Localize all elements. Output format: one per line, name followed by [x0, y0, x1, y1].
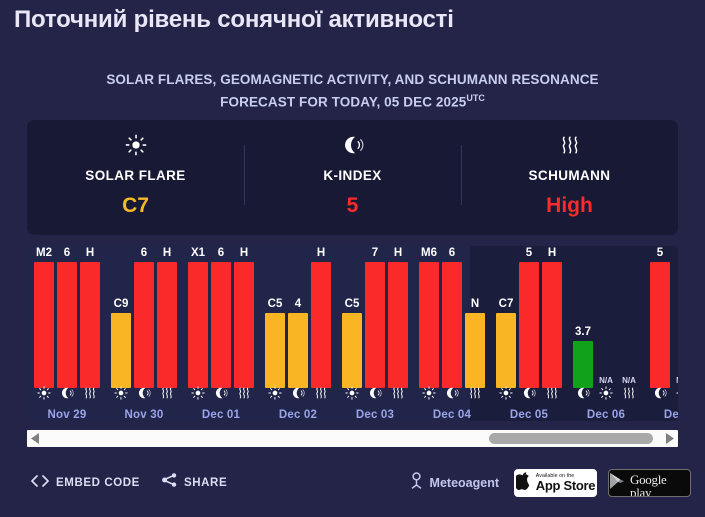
bar-rect: [519, 262, 539, 388]
day-label: Dec 06: [573, 409, 639, 421]
bar-solar-flare[interactable]: M6: [419, 246, 439, 388]
apple-logo-icon: [516, 472, 531, 495]
day-label: Dec 07: [650, 409, 678, 421]
sun-icon: [188, 385, 208, 401]
app-store-big-label: App Store: [536, 479, 595, 492]
schumann-waves-icon: [80, 385, 100, 401]
footer-brand-and-stores: Meteoagent Available on the App Store: [410, 469, 691, 497]
bar-solar-flare[interactable]: C5: [342, 246, 362, 388]
bar-value-label: C5: [345, 299, 360, 310]
day-group[interactable]: M26HNov 29: [34, 246, 100, 421]
embed-code-label: EMBED CODE: [56, 477, 140, 489]
bar-schumann[interactable]: H: [157, 246, 177, 388]
day-group[interactable]: C96HNov 30: [111, 246, 177, 421]
bar-value-label: C9: [114, 299, 129, 310]
bar-schumann[interactable]: H: [388, 246, 408, 388]
summary-cell-solar-flare: SOLAR FLAREC7: [27, 120, 244, 235]
bar-schumann[interactable]: N: [465, 246, 485, 388]
bar-rect: [134, 262, 154, 388]
bar-solar-flare[interactable]: C9: [111, 246, 131, 388]
bar-value-label: C5: [268, 299, 283, 310]
sun-icon: [125, 132, 147, 158]
day-label: Nov 29: [34, 409, 100, 421]
sun-icon: [111, 385, 131, 401]
sun-icon: [265, 385, 285, 401]
footer: EMBED CODE SHARE: [0, 462, 705, 517]
subtitle-line-2: FORECAST FOR TODAY, 05 DEC 2025UTC: [0, 89, 705, 112]
bar-value-label: 6: [64, 248, 70, 259]
moon-waves-icon: [342, 132, 364, 158]
scrollbar-thumb[interactable]: [489, 433, 653, 444]
moon-waves-icon: [365, 385, 385, 401]
google-play-text: ANDROID APP ON Google play: [630, 469, 690, 497]
bar-rect: [80, 262, 100, 388]
bar-rect: [650, 262, 670, 388]
brand[interactable]: Meteoagent: [410, 472, 499, 494]
bar-schumann[interactable]: H: [234, 246, 254, 388]
sun-icon: [673, 385, 678, 401]
solar-activity-widget: Поточний рівень сонячної активності SOLA…: [0, 0, 705, 517]
bar-value-label: 7: [372, 248, 378, 259]
bar-rect: [388, 262, 408, 388]
bar-rect: [234, 262, 254, 388]
schumann-waves-icon: [465, 385, 485, 401]
bar-rect: [496, 313, 516, 388]
summary-value: C7: [122, 194, 149, 218]
schumann-waves-icon: [157, 385, 177, 401]
bar-value-label: 3.7: [575, 327, 591, 338]
bar-solar-flare[interactable]: C7: [496, 246, 516, 388]
bar-k-index[interactable]: 6: [134, 246, 154, 388]
day-group[interactable]: 5N/AN/ADec 07: [650, 246, 678, 421]
bar-rect: [57, 262, 77, 388]
bar-value-label: H: [240, 248, 248, 259]
bar-rect: [419, 262, 439, 388]
bar-k-index[interactable]: 6: [442, 246, 462, 388]
bar-value-label: H: [86, 248, 94, 259]
bar-value-label: 6: [449, 248, 455, 259]
subtitle-date: FORECAST FOR TODAY, 05 DEC 2025: [220, 95, 466, 110]
forecast-subtitle: SOLAR FLARES, GEOMAGNETIC ACTIVITY, AND …: [0, 70, 705, 112]
bar-rect: [573, 341, 593, 388]
sun-icon: [496, 385, 516, 401]
summary-card: SOLAR FLAREC7K-INDEX5SCHUMANNHigh: [27, 120, 678, 235]
moon-waves-icon: [573, 385, 593, 401]
moon-waves-icon: [519, 385, 539, 401]
sun-icon: [419, 385, 439, 401]
sun-icon: [342, 385, 362, 401]
bar-solar-flare[interactable]: C5: [265, 246, 285, 388]
summary-label: K-INDEX: [323, 168, 381, 183]
day-label: Dec 01: [188, 409, 254, 421]
bar-value-label: 5: [526, 248, 532, 259]
moon-waves-icon: [57, 385, 77, 401]
schumann-waves-icon: [619, 385, 639, 401]
bar-rect: [157, 262, 177, 388]
moon-waves-icon: [134, 385, 154, 401]
bar-rect: [311, 262, 331, 388]
scrollbar-track[interactable]: [43, 430, 662, 447]
bar-solar-flare[interactable]: N/A: [596, 246, 616, 388]
page-title: Поточний рівень сонячної активності: [14, 6, 454, 34]
bar-solar-flare[interactable]: M2: [34, 246, 54, 388]
bar-schumann[interactable]: N/A: [619, 246, 639, 388]
bar-rect: [442, 262, 462, 388]
summary-value: 5: [347, 194, 359, 218]
summary-cell-k-index: K-INDEX5: [244, 120, 461, 235]
app-store-badge[interactable]: Available on the App Store: [514, 469, 597, 497]
google-play-big-label: Google play: [630, 473, 690, 497]
bar-schumann[interactable]: H: [80, 246, 100, 388]
day-group[interactable]: C57HDec 03: [342, 246, 408, 421]
bar-value-label: C7: [499, 299, 514, 310]
schumann-waves-icon: [388, 385, 408, 401]
embed-code-button[interactable]: EMBED CODE: [31, 474, 140, 492]
bar-value-label: H: [394, 248, 402, 259]
bar-k-index[interactable]: 3.7: [573, 246, 593, 388]
app-store-text: Available on the App Store: [536, 474, 595, 492]
bar-rect: [111, 313, 131, 388]
day-label: Dec 04: [419, 409, 485, 421]
subtitle-line-1: SOLAR FLARES, GEOMAGNETIC ACTIVITY, AND …: [0, 70, 705, 89]
bar-value-label: 6: [141, 248, 147, 259]
day-label: Dec 05: [496, 409, 562, 421]
schumann-waves-icon: [311, 385, 331, 401]
bar-solar-flare[interactable]: N/A: [673, 246, 678, 388]
moon-waves-icon: [442, 385, 462, 401]
day-label: Nov 30: [111, 409, 177, 421]
share-label: SHARE: [184, 477, 227, 489]
schumann-waves-icon: [542, 385, 562, 401]
sun-icon: [596, 385, 616, 401]
bar-rect: [211, 262, 231, 388]
bar-value-label: M6: [421, 248, 437, 259]
bar-rect: [542, 262, 562, 388]
day-label: Dec 03: [342, 409, 408, 421]
bar-value-label: 6: [218, 248, 224, 259]
bar-rect: [34, 262, 54, 388]
schumann-waves-icon: [234, 385, 254, 401]
summary-label: SCHUMANN: [529, 168, 611, 183]
summary-label: SOLAR FLARE: [85, 168, 185, 183]
bar-rect: [342, 313, 362, 388]
sun-icon: [34, 385, 54, 401]
google-play-logo-icon: [609, 472, 625, 495]
code-brackets-icon: [31, 474, 49, 492]
utc-superscript: UTC: [466, 93, 485, 103]
bar-schumann[interactable]: H: [542, 246, 562, 388]
share-button[interactable]: SHARE: [162, 473, 227, 492]
bar-rect: [365, 262, 385, 388]
bar-value-label: M2: [36, 248, 52, 259]
scroll-left-arrow-icon[interactable]: [27, 430, 43, 447]
day-group[interactable]: M66NDec 04: [419, 246, 485, 421]
bar-schumann[interactable]: H: [311, 246, 331, 388]
day-label: Dec 02: [265, 409, 331, 421]
schumann-waves-icon: [559, 132, 581, 158]
google-play-badge[interactable]: ANDROID APP ON Google play: [608, 469, 691, 497]
summary-cell-schumann: SCHUMANNHigh: [461, 120, 678, 235]
bar-k-index[interactable]: 6: [211, 246, 231, 388]
bar-rect: [188, 262, 208, 388]
chart-scrollbar[interactable]: [27, 430, 678, 447]
bar-solar-flare[interactable]: X1: [188, 246, 208, 388]
day-group[interactable]: C54HDec 02: [265, 246, 331, 421]
bar-value-label: 4: [295, 299, 301, 310]
bar-value-label: 5: [657, 248, 663, 259]
day-group[interactable]: X16HDec 01: [188, 246, 254, 421]
scroll-right-arrow-icon[interactable]: [662, 430, 678, 447]
summary-value: High: [546, 194, 593, 218]
day-group[interactable]: 3.7N/AN/ADec 06: [573, 246, 639, 421]
bar-rect: [465, 313, 485, 388]
moon-waves-icon: [211, 385, 231, 401]
moon-waves-icon: [650, 385, 670, 401]
bar-k-index[interactable]: 5: [650, 246, 670, 388]
bar-k-index[interactable]: 5: [519, 246, 539, 388]
brand-name: Meteoagent: [430, 476, 499, 490]
footer-actions: EMBED CODE SHARE: [31, 473, 227, 492]
forecast-chart[interactable]: Nov 28M26HNov 29C96HNov 30X16HDec 01C54H…: [27, 246, 678, 421]
bar-rect: [265, 313, 285, 388]
bar-value-label: H: [317, 248, 325, 259]
bar-rect: [288, 313, 308, 388]
day-group[interactable]: C75HDec 05: [496, 246, 562, 421]
share-icon: [162, 473, 177, 492]
meteoagent-logo-icon: [410, 472, 423, 494]
bar-value-label: X1: [191, 248, 205, 259]
bar-value-label: H: [548, 248, 556, 259]
moon-waves-icon: [288, 385, 308, 401]
bar-k-index[interactable]: 7: [365, 246, 385, 388]
bar-value-label: N: [471, 299, 479, 310]
bar-value-label: H: [163, 248, 171, 259]
bar-k-index[interactable]: 6: [57, 246, 77, 388]
bar-k-index[interactable]: 4: [288, 246, 308, 388]
